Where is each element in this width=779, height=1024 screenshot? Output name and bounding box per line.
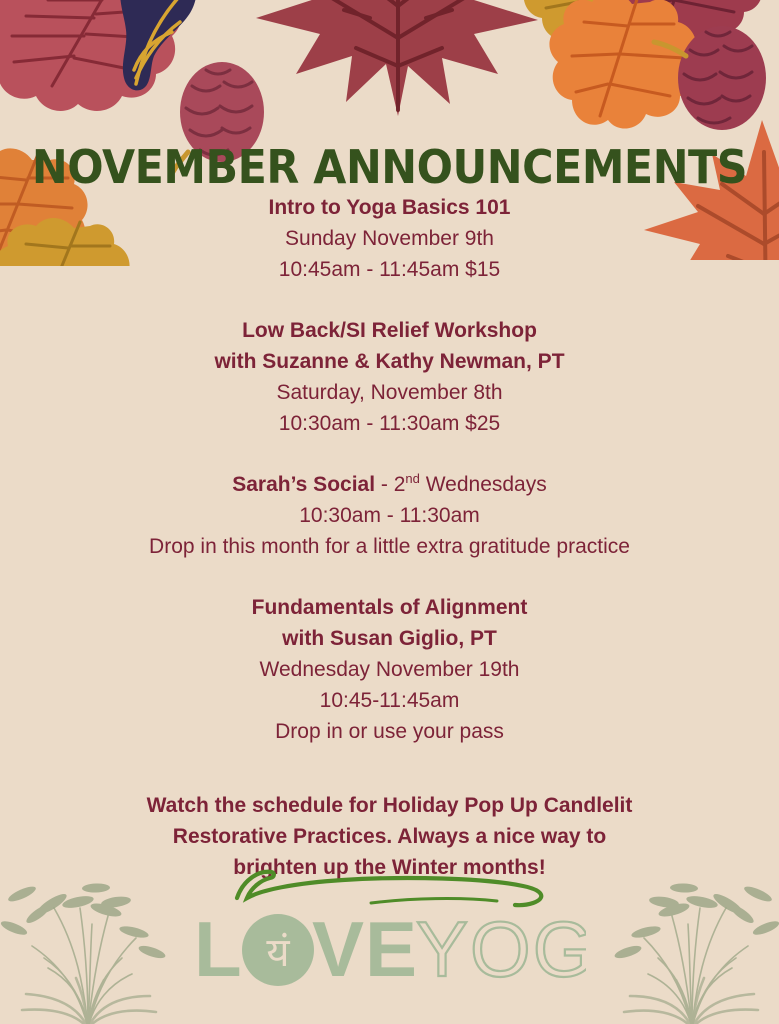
announcement-line: Low Back/SI Relief Workshop (0, 315, 779, 346)
swoosh-flourish-icon (225, 866, 555, 912)
announcement-intro-to-yoga-basics: Intro to Yoga Basics 101Sunday November … (0, 192, 779, 285)
closing-note-line: Restorative Practices. Always a nice way… (0, 821, 779, 852)
love-yoga-logo: L यं VE YOGA (0, 866, 779, 990)
logo-mantra-glyph: यं (266, 930, 290, 976)
logo-yoga-text: YOGA (416, 912, 586, 990)
announcement-low-back-si-relief-workshop: Low Back/SI Relief Workshopwith Suzanne … (0, 315, 779, 439)
announcement-fundamentals-of-alignment: Fundamentals of Alignmentwith Susan Gigl… (0, 592, 779, 747)
logo-love-text: L (194, 912, 243, 990)
page-title: November Announcements (27, 144, 751, 190)
announcement-line: Drop in or use your pass (0, 716, 779, 747)
announcement-line: 10:45am - 11:45am $15 (0, 254, 779, 285)
closing-note-line: Watch the schedule for Holiday Pop Up Ca… (0, 790, 779, 821)
announcement-line: 10:30am - 11:30am $25 (0, 408, 779, 439)
announcement-list: Intro to Yoga Basics 101Sunday November … (0, 192, 779, 883)
logo-ve-text: VE (312, 912, 418, 990)
maple-leaf-top-center-decoration (252, 0, 542, 118)
announcement-line: Sunday November 9th (0, 223, 779, 254)
ordinal-suffix: nd (405, 471, 419, 486)
poster-canvas: November Announcements Intro to Yoga Bas… (0, 0, 779, 1024)
love-yoga-wordmark: L यं VE YOGA (194, 912, 586, 990)
announcement-line: Wednesday November 19th (0, 654, 779, 685)
announcement-line: with Suzanne & Kathy Newman, PT (0, 346, 779, 377)
announcement-line: Sarah’s Social - 2nd Wednesdays (0, 469, 779, 500)
announcement-lead-label: Sarah’s Social (232, 473, 375, 496)
announcement-line: 10:30am - 11:30am (0, 500, 779, 531)
announcement-line-suffix: - 2 (375, 473, 405, 496)
announcement-sarahs-social: Sarah’s Social - 2nd Wednesdays10:30am -… (0, 469, 779, 562)
announcement-line: Fundamentals of Alignment (0, 592, 779, 623)
announcement-line: with Susan Giglio, PT (0, 623, 779, 654)
announcement-line: Drop in this month for a little extra gr… (0, 531, 779, 562)
announcement-line: Saturday, November 8th (0, 377, 779, 408)
announcement-line: 10:45-11:45am (0, 685, 779, 716)
announcement-line-tail: Wednesdays (420, 473, 547, 496)
announcement-line: Intro to Yoga Basics 101 (0, 192, 779, 223)
